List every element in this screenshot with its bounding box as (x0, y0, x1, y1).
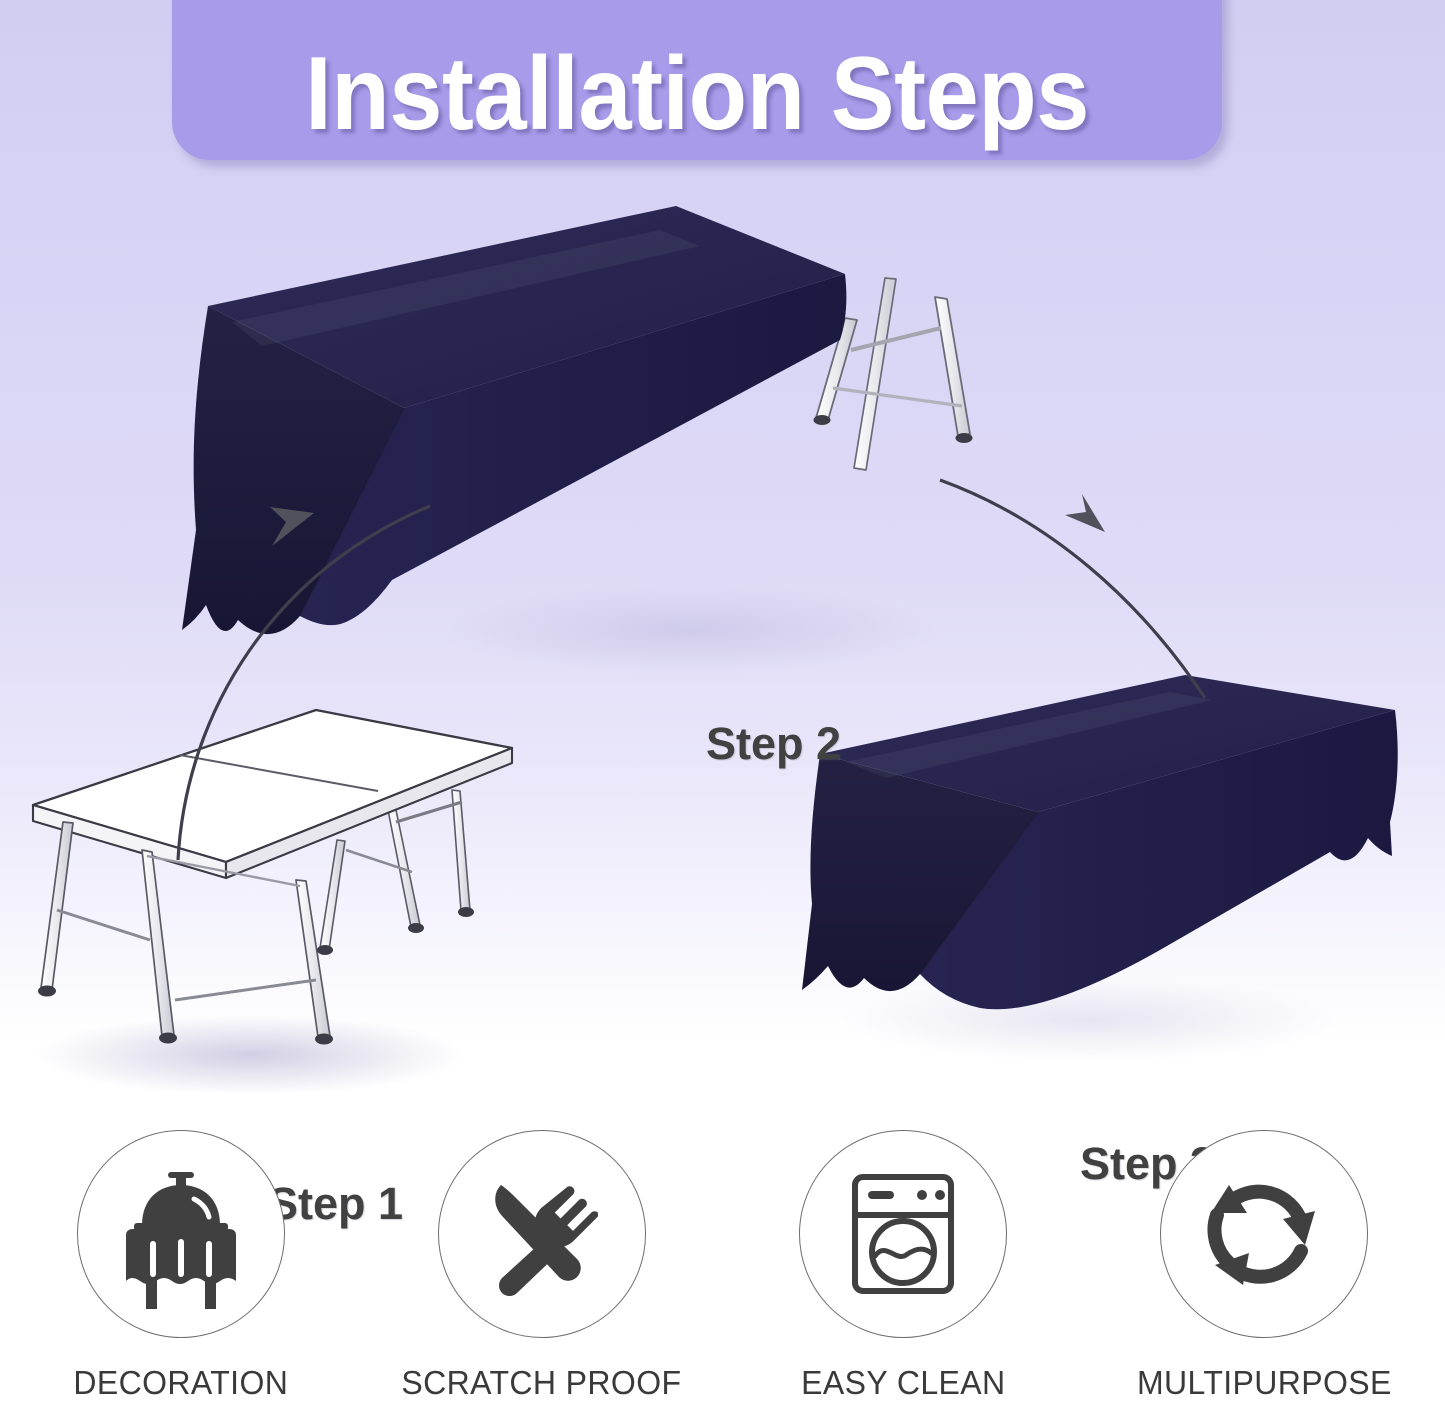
steps-stage: Step 1 Step 2 Step 3 (0, 150, 1445, 1110)
feature-scratch-proof: SCRATCH PROOF (361, 1130, 722, 1410)
arrow-step2-to-step3-head (1065, 494, 1105, 532)
table-leg (41, 822, 73, 990)
feature-decoration: DECORATION (0, 1130, 361, 1410)
feature-scratch-proof-label: SCRATCH PROOF (402, 1364, 682, 1402)
table-leg (452, 790, 470, 911)
feature-strip: DECORATION SCRATCH PROOF (0, 1130, 1445, 1410)
steps-illustration (0, 150, 1445, 1110)
recycle-arrows-icon (1189, 1159, 1339, 1309)
step3-cover-illustration (802, 675, 1398, 1009)
arrow-step2-to-step3-curve (940, 480, 1205, 698)
knife-fork-icon (467, 1159, 617, 1309)
table-leg (854, 278, 896, 470)
step1-table-illustration (33, 710, 512, 1045)
table-leg (935, 297, 970, 436)
table-brace (833, 388, 962, 406)
table-brace (851, 328, 941, 350)
shadow-step1 (35, 1015, 465, 1095)
feature-easy-clean: EASY CLEAN (723, 1130, 1084, 1410)
table-leg (142, 850, 174, 1036)
washing-machine-icon (828, 1159, 978, 1309)
shadow-step3 (840, 978, 1340, 1062)
feature-multipurpose-circle (1160, 1130, 1368, 1338)
feature-multipurpose-label: MULTIPURPOSE (1137, 1364, 1392, 1402)
page-title: Installation Steps (305, 42, 1089, 146)
table-leg (296, 880, 330, 1037)
feature-scratch-proof-circle (438, 1130, 646, 1338)
feature-easy-clean-circle (799, 1130, 1007, 1338)
step-2-label: Step 2 (706, 718, 841, 770)
table-brace (175, 980, 316, 1000)
feature-decoration-label: DECORATION (73, 1364, 288, 1402)
shadow-step2 (440, 585, 940, 675)
feature-multipurpose: MULTIPURPOSE (1084, 1130, 1445, 1410)
header-banner: Installation Steps (172, 0, 1222, 160)
feature-easy-clean-label: EASY CLEAN (801, 1364, 1005, 1402)
step2-cover-illustration (182, 206, 973, 634)
table-leg-foot (814, 415, 973, 443)
infographic-canvas: Installation Steps (0, 0, 1445, 1410)
table-leg (320, 840, 345, 950)
feature-decoration-circle (77, 1130, 285, 1338)
table-cloche-icon (106, 1159, 256, 1309)
table-brace (57, 910, 150, 940)
